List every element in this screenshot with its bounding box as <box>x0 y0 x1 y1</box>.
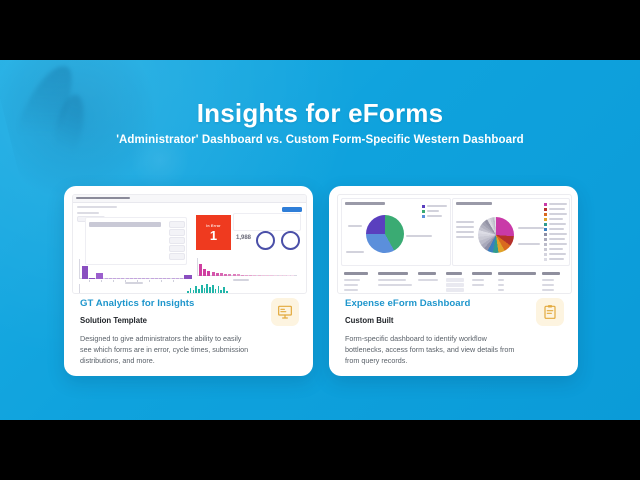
thumb-axis-label <box>233 279 249 281</box>
thumb-legend-item <box>422 215 442 218</box>
table-column-header <box>418 272 436 275</box>
thumb-pie-chart-status <box>366 215 404 253</box>
thumb-legend-item <box>544 253 566 256</box>
table-cell <box>446 278 464 282</box>
thumb-kpi-error-tile: In Error 1 <box>196 215 231 250</box>
table-cell <box>472 284 484 286</box>
thumb-legend-item <box>544 258 564 261</box>
thumb-kpi-label: In Error <box>206 224 221 228</box>
table-cell <box>344 279 360 281</box>
thumb-legend-item <box>544 223 566 226</box>
table-column-header <box>498 272 536 275</box>
thumb-pie-label <box>518 227 544 229</box>
thumb-pie-label <box>518 243 540 245</box>
legend-label <box>427 205 447 207</box>
thumb-pie-label <box>456 226 474 228</box>
thumb-filter-box <box>169 245 185 252</box>
table-column-header <box>542 272 560 275</box>
thumb-spark-chart-teal <box>79 284 299 293</box>
card-body-gt-analytics: GT Analytics for Insights Solution Templ… <box>80 298 298 367</box>
table-cell <box>498 289 504 291</box>
thumb-pie-chart-pending <box>478 217 514 253</box>
card-subtitle: Solution Template <box>80 316 298 325</box>
thumb-breadcrumb <box>77 206 117 208</box>
thumb-dashboard-title <box>89 222 161 227</box>
thumb-control-panel <box>233 213 301 231</box>
thumb-legend-item <box>544 233 567 236</box>
table-cell <box>344 289 358 291</box>
thumb-panel-heading <box>456 202 492 205</box>
thumbnail-gt-analytics-dashboard: In Error 1 1,988 <box>72 194 307 294</box>
table-cell <box>472 279 484 281</box>
thumb-subnav <box>77 212 99 214</box>
presentation-chart-icon <box>271 298 299 326</box>
table-cell <box>446 288 464 292</box>
thumb-topbar <box>73 195 306 203</box>
thumb-legend-item <box>544 228 564 231</box>
thumbnail-expense-eform-dashboard <box>337 194 572 294</box>
legend-label <box>427 215 442 217</box>
card-title: Expense eForm Dashboard <box>345 298 563 309</box>
thumb-legend-item <box>544 203 567 206</box>
thumb-panel-heading <box>345 202 385 205</box>
thumb-pie-label <box>456 236 474 238</box>
table-cell <box>446 283 464 287</box>
slide-stage: Insights for eForms 'Administrator' Dash… <box>0 0 640 480</box>
legend-swatch <box>422 215 425 218</box>
thumb-pie-label <box>456 231 474 233</box>
card-description: Form-specific dashboard to identify work… <box>345 333 517 367</box>
card-description: Designed to give administrators the abil… <box>80 333 252 367</box>
thumb-donut-chart <box>256 231 275 250</box>
table-cell <box>542 279 554 281</box>
letterbox-top <box>0 0 640 60</box>
thumb-legend-item <box>544 218 563 221</box>
thumb-filter-box <box>169 221 185 228</box>
card-expense-eform[interactable]: Expense eForm Dashboard Custom Built For… <box>329 186 578 376</box>
table-column-header <box>472 272 492 275</box>
thumb-legend-item <box>544 238 565 241</box>
thumb-legend-item <box>544 243 567 246</box>
letterbox-bottom <box>0 420 640 480</box>
thumb-legend-item <box>544 248 563 251</box>
thumb-bar-chart-magenta <box>197 258 297 276</box>
thumb-bar-chart-purple <box>79 259 189 279</box>
table-cell <box>542 289 554 291</box>
legend-swatch <box>422 210 425 213</box>
thumb-kpi-number: 1,988 <box>236 235 251 241</box>
table-column-header <box>344 272 368 275</box>
thumb-app-name <box>76 197 130 200</box>
thumb-pie-label <box>456 221 474 223</box>
table-cell <box>542 284 554 286</box>
card-subtitle: Custom Built <box>345 316 563 325</box>
thumb-kpi-value: 1 <box>210 229 217 242</box>
thumb-primary-button[interactable] <box>282 207 302 212</box>
legend-label <box>427 210 439 212</box>
table-cell <box>344 284 358 286</box>
table-cell <box>498 284 504 286</box>
table-column-header <box>378 272 408 275</box>
page-title: Insights for eForms <box>0 98 640 129</box>
thumb-legend-item <box>422 210 439 213</box>
thumb-filter-box <box>169 229 185 236</box>
table-cell <box>498 279 504 281</box>
thumb-pie-label <box>406 235 432 237</box>
thumb-legend-item <box>544 213 567 216</box>
thumb-legend-item <box>422 205 447 208</box>
card-title: GT Analytics for Insights <box>80 298 298 309</box>
table-cell <box>378 279 406 281</box>
thumb-donut-chart <box>281 231 300 250</box>
legend-swatch <box>422 205 425 208</box>
card-body-expense-eform: Expense eForm Dashboard Custom Built For… <box>345 298 563 367</box>
slide-canvas: Insights for eForms 'Administrator' Dash… <box>0 60 640 420</box>
clipboard-icon <box>536 298 564 326</box>
card-gt-analytics[interactable]: In Error 1 1,988 <box>64 186 313 376</box>
table-column-header <box>446 272 462 275</box>
table-cell <box>378 284 412 286</box>
page-subtitle: 'Administrator' Dashboard vs. Custom For… <box>0 134 640 146</box>
thumb-pie-label <box>348 225 362 227</box>
thumb-filter-box <box>169 237 185 244</box>
table-cell <box>418 279 438 281</box>
thumb-legend-item <box>544 208 565 211</box>
thumb-pie-label <box>346 251 364 253</box>
